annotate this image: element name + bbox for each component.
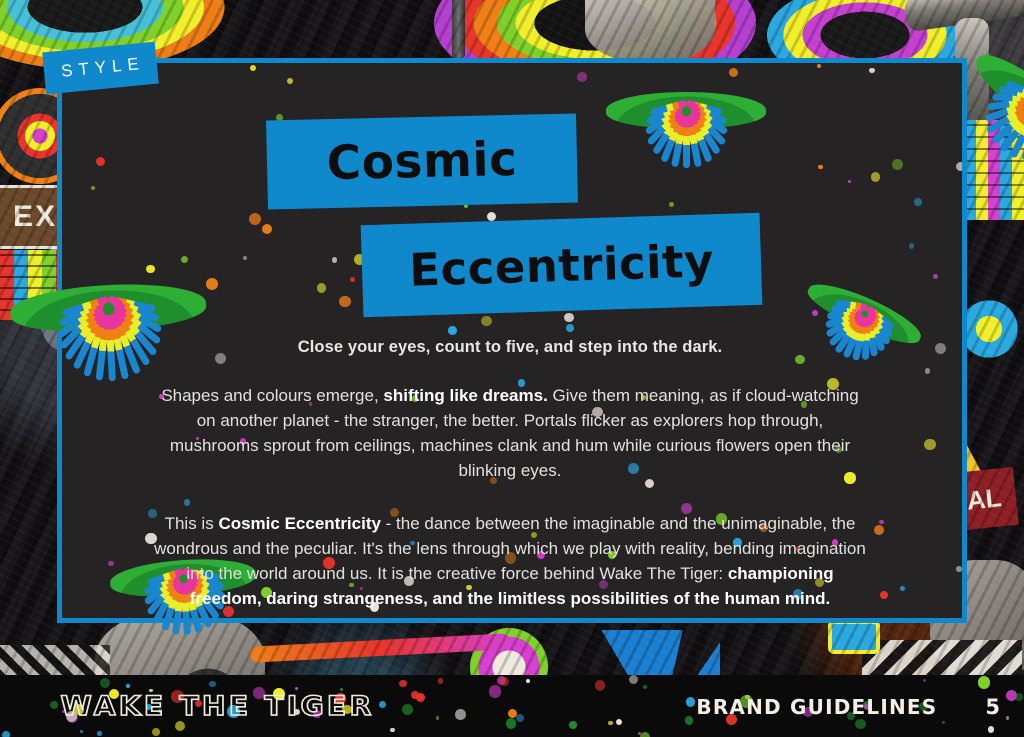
confetti-dot — [487, 212, 496, 221]
title-block-secondary: Eccentricity — [361, 213, 763, 317]
body-copy: Close your eyes, count to five, and step… — [140, 338, 880, 639]
confetti-dot — [988, 726, 994, 732]
confetti-dot — [569, 721, 576, 728]
confetti-dot — [181, 256, 188, 263]
confetti-dot — [146, 265, 155, 274]
confetti-dot — [2, 731, 11, 737]
footer-bar: WAKE THE TIGER BRAND GUIDELINES 5 — [0, 675, 1024, 737]
confetti-dot — [96, 157, 105, 166]
confetti-dot — [685, 716, 694, 725]
confetti-dot — [250, 65, 256, 71]
confetti-dot — [126, 684, 131, 689]
confetti-dot — [448, 326, 457, 335]
confetti-dot — [869, 68, 874, 73]
confetti-dot — [243, 256, 247, 260]
paragraph-2-bold-1: Cosmic Eccentricity — [218, 514, 381, 533]
slide-canvas: EX AL STYLE Cosmic Eccentricity Close yo… — [0, 0, 1024, 737]
confetti-dot — [399, 680, 406, 687]
confetti-dot — [595, 680, 605, 690]
paragraph-1-bold-1: shifting like dreams. — [383, 386, 547, 405]
confetti-dot — [100, 678, 110, 688]
confetti-dot — [880, 591, 888, 599]
confetti-dot — [855, 719, 866, 730]
paragraph-1-part-1: Shapes and colours emerge, — [161, 386, 383, 405]
confetti-dot — [402, 704, 413, 715]
confetti-dot — [506, 718, 516, 728]
confetti-dot — [818, 165, 822, 169]
confetti-dot — [933, 274, 938, 279]
confetti-dot — [935, 343, 946, 354]
confetti-dot — [481, 316, 492, 327]
confetti-dot — [608, 721, 612, 725]
confetti-dot — [629, 675, 638, 684]
confetti-dot — [175, 721, 185, 731]
confetti-dot — [379, 701, 386, 708]
title-block-primary: Cosmic — [266, 113, 578, 209]
confetti-dot — [871, 172, 881, 182]
lead-sentence: Close your eyes, count to five, and step… — [140, 338, 880, 357]
confetti-dot — [564, 313, 573, 322]
confetti-dot — [526, 679, 530, 683]
confetti-dot — [332, 257, 338, 263]
confetti-dot — [262, 224, 272, 234]
confetti-dot — [209, 681, 216, 688]
paragraph-1: Shapes and colours emerge, shifting like… — [140, 383, 880, 483]
confetti-dot — [206, 278, 218, 290]
confetti-dot — [438, 678, 443, 683]
confetti-dot — [416, 693, 425, 702]
confetti-dot — [91, 186, 95, 190]
confetti-dot — [577, 72, 587, 82]
confetti-dot — [350, 277, 355, 282]
confetti-dot — [978, 676, 990, 688]
confetti-dot — [295, 687, 298, 690]
confetti-dot — [1006, 716, 1010, 720]
confetti-dot — [900, 586, 905, 591]
footer-right: BRAND GUIDELINES 5 — [696, 695, 1000, 719]
confetti-dot — [500, 677, 509, 686]
confetti-dot — [455, 709, 465, 719]
confetti-dot — [892, 159, 903, 170]
confetti-dot — [339, 296, 351, 308]
page-title-line-1: Cosmic — [326, 132, 518, 191]
confetti-dot — [640, 732, 650, 737]
confetti-dot — [956, 566, 961, 571]
confetti-dot — [956, 162, 965, 171]
brand-logo: WAKE THE TIGER — [61, 691, 375, 722]
confetti-dot — [317, 283, 327, 293]
paragraph-2: This is Cosmic Eccentricity - the dance … — [140, 511, 880, 611]
confetti-dot — [489, 685, 501, 697]
confetti-dot — [686, 697, 696, 707]
jellyfish-icon — [606, 92, 766, 187]
confetti-dot — [516, 714, 524, 722]
confetti-dot — [436, 716, 440, 720]
confetti-dot — [669, 202, 674, 207]
confetti-dot — [50, 701, 58, 709]
confetti-dot — [643, 685, 647, 689]
confetti-dot — [817, 64, 821, 68]
confetti-dot — [909, 243, 915, 249]
confetti-dot — [729, 68, 738, 77]
confetti-dot — [97, 731, 102, 736]
confetti-dot — [616, 719, 622, 725]
confetti-dot — [80, 730, 83, 733]
confetti-dot — [923, 679, 926, 682]
confetti-dot — [152, 728, 160, 736]
confetti-dot — [924, 439, 935, 450]
confetti-dot — [925, 368, 931, 374]
page-number: 5 — [985, 695, 1000, 719]
confetti-dot — [287, 78, 293, 84]
confetti-dot — [249, 213, 261, 225]
page-title-line-2: Eccentricity — [408, 234, 714, 297]
document-label: BRAND GUIDELINES — [696, 695, 937, 719]
section-tag-label: STYLE — [55, 54, 145, 82]
confetti-dot — [1015, 693, 1022, 700]
confetti-dot — [566, 324, 574, 332]
confetti-dot — [848, 180, 851, 183]
confetti-dot — [914, 198, 922, 206]
confetti-dot — [390, 728, 394, 732]
confetti-dot — [942, 721, 945, 724]
paragraph-2-part-1: This is — [165, 514, 219, 533]
